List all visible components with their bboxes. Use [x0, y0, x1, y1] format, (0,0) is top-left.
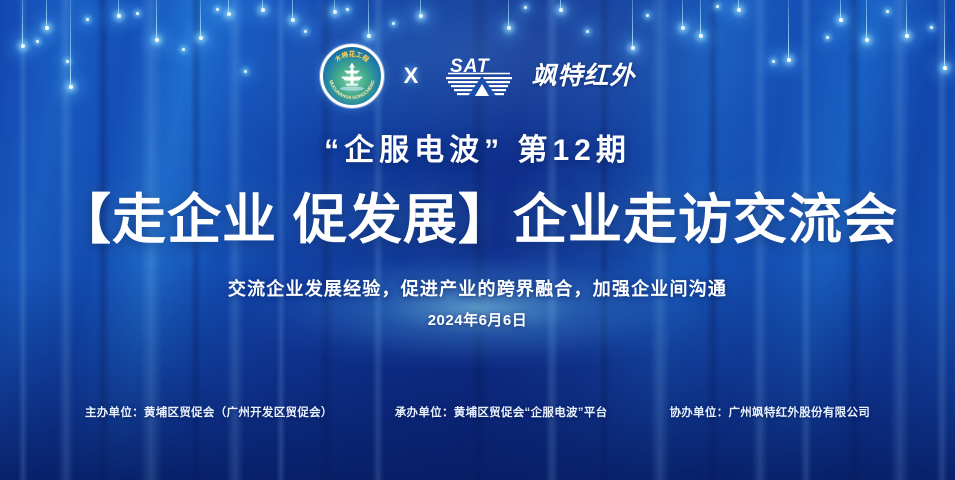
poster-date: 2024年6月6日	[0, 313, 955, 328]
sat-logo: SAT 飒特红外	[438, 53, 635, 99]
poster-subtitle: 交流企业发展经验，促进产业的跨界融合，加强企业间沟通	[0, 280, 955, 298]
host-credit: 承办单位：黄埔区贸促会“企服电波”平台	[395, 408, 608, 420]
co-organizer-credit: 协办单位：广州飒特红外股份有限公司	[669, 408, 870, 420]
mucunahua-emblem-icon: 木棉花工程 MUCUNAHUA GONGCHENG	[320, 44, 384, 108]
sat-mark-icon: SAT	[438, 53, 524, 99]
headline-center-glow	[258, 248, 698, 368]
logo-row: 木棉花工程 MUCUNAHUA GONGCHENG X	[0, 44, 955, 108]
poster-headline: 【走企业 促发展】企业走访交流会	[0, 192, 955, 248]
poster-kicker: “企服电波” 第12期	[0, 136, 955, 166]
organizer-credit: 主办单位：黄埔区贸促会（广州开发区贸促会）	[85, 408, 333, 420]
footer-credits: 主办单位：黄埔区贸促会（广州开发区贸促会） 承办单位：黄埔区贸促会“企服电波”平…	[0, 408, 955, 420]
sat-company-name: 飒特红外	[531, 64, 635, 89]
poster-canvas: 木棉花工程 MUCUNAHUA GONGCHENG X	[0, 0, 955, 480]
logo-separator-x: X	[402, 65, 421, 87]
